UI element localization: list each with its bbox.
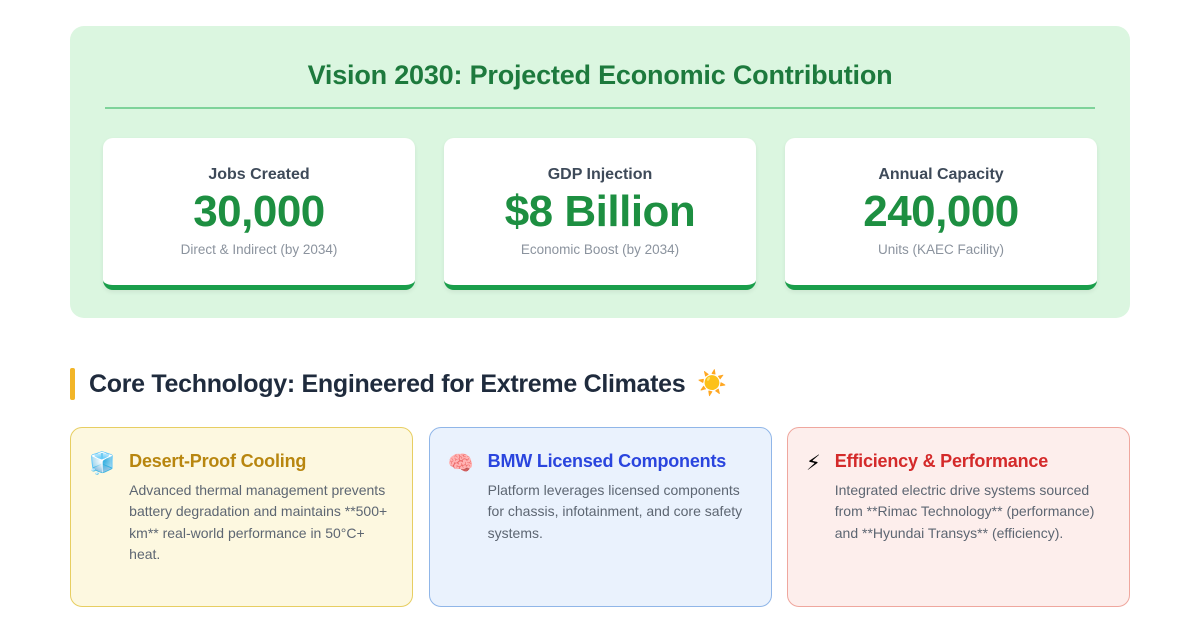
stat-sublabel: Economic Boost (by 2034) — [521, 242, 679, 257]
feature-title: Desert-Proof Cooling — [129, 450, 392, 473]
brain-icon: 🧠 — [448, 453, 474, 474]
feature-content: Desert-Proof Cooling Advanced thermal ma… — [129, 450, 392, 565]
vision-2030-panel: Vision 2030: Projected Economic Contribu… — [70, 26, 1130, 318]
feature-title: BMW Licensed Components — [488, 450, 751, 473]
lightning-bolt-icon: ⚡ — [806, 453, 821, 474]
stat-card-jobs-created: Jobs Created 30,000 Direct & Indirect (b… — [103, 138, 415, 290]
heading-accent-bar — [70, 368, 75, 400]
stat-label: GDP Injection — [548, 166, 653, 184]
feature-card-efficiency-performance: ⚡ Efficiency & Performance Integrated el… — [787, 427, 1130, 607]
section-title: Core Technology: Engineered for Extreme … — [89, 370, 685, 399]
feature-content: Efficiency & Performance Integrated elec… — [835, 450, 1109, 544]
stat-label: Jobs Created — [208, 166, 309, 184]
stat-value: $8 Billion — [505, 188, 696, 236]
feature-card-desert-proof-cooling: 🧊 Desert-Proof Cooling Advanced thermal … — [70, 427, 413, 607]
feature-card-bmw-licensed-components: 🧠 BMW Licensed Components Platform lever… — [429, 427, 772, 607]
feature-description: Platform leverages licensed components f… — [488, 480, 751, 544]
feature-card-row: 🧊 Desert-Proof Cooling Advanced thermal … — [70, 427, 1130, 607]
sun-icon: ☀️ — [697, 372, 727, 396]
feature-content: BMW Licensed Components Platform leverag… — [488, 450, 751, 544]
feature-description: Advanced thermal management prevents bat… — [129, 480, 392, 565]
stat-label: Annual Capacity — [878, 166, 1003, 184]
page-root: Vision 2030: Projected Economic Contribu… — [0, 0, 1200, 628]
stat-value: 30,000 — [193, 188, 325, 236]
panel-title: Vision 2030: Projected Economic Contribu… — [70, 26, 1130, 91]
feature-title: Efficiency & Performance — [835, 450, 1109, 473]
stat-sublabel: Direct & Indirect (by 2034) — [181, 242, 338, 257]
stat-card-gdp-injection: GDP Injection $8 Billion Economic Boost … — [444, 138, 756, 290]
stat-card-row: Jobs Created 30,000 Direct & Indirect (b… — [70, 109, 1130, 290]
stat-value: 240,000 — [863, 188, 1019, 236]
stat-card-annual-capacity: Annual Capacity 240,000 Units (KAEC Faci… — [785, 138, 1097, 290]
stat-sublabel: Units (KAEC Facility) — [878, 242, 1004, 257]
core-technology-heading: Core Technology: Engineered for Extreme … — [70, 368, 727, 400]
feature-description: Integrated electric drive systems source… — [835, 480, 1109, 544]
ice-cube-icon: 🧊 — [89, 453, 115, 474]
